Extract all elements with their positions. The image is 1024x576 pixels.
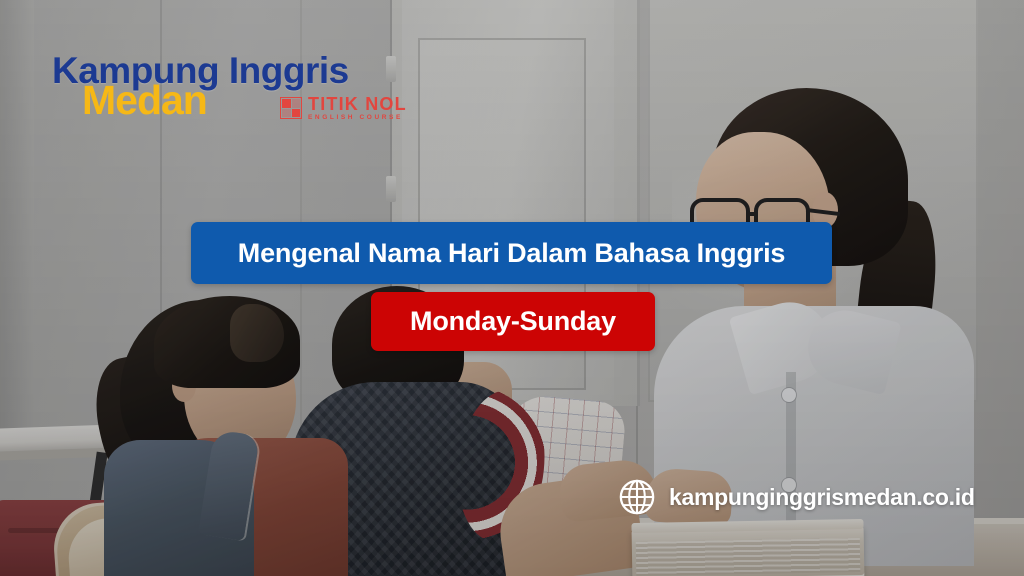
subtitle-banner: Monday-Sunday: [371, 292, 655, 351]
grid-cell: [292, 109, 301, 118]
partner-logo-tagline: ENGLISH COURSE: [308, 115, 407, 122]
website-footer: kampunginggrismedan.co.id: [618, 478, 975, 516]
partner-logo-name: TITIK NOL: [308, 95, 407, 113]
website-url: kampunginggrismedan.co.id: [669, 484, 975, 511]
brand-lockup: Kampung Inggris Medan TITIK NOL ENGLISH …: [52, 52, 472, 138]
grid-cell: [282, 109, 291, 118]
grid-cell: [292, 99, 301, 108]
title-text: Mengenal Nama Hari Dalam Bahasa Inggris: [238, 238, 785, 269]
partner-logo: TITIK NOL ENGLISH COURSE: [280, 95, 407, 122]
brand-name-secondary: Medan: [82, 80, 207, 121]
grid-cell: [282, 99, 291, 108]
globe-icon: [618, 478, 656, 516]
thumbnail-canvas: Kampung Inggris Medan TITIK NOL ENGLISH …: [0, 0, 1024, 576]
title-banner: Mengenal Nama Hari Dalam Bahasa Inggris: [191, 222, 832, 284]
grid-square-icon: [280, 97, 302, 119]
partner-logo-text: TITIK NOL ENGLISH COURSE: [308, 95, 407, 122]
subtitle-text: Monday-Sunday: [410, 306, 616, 337]
